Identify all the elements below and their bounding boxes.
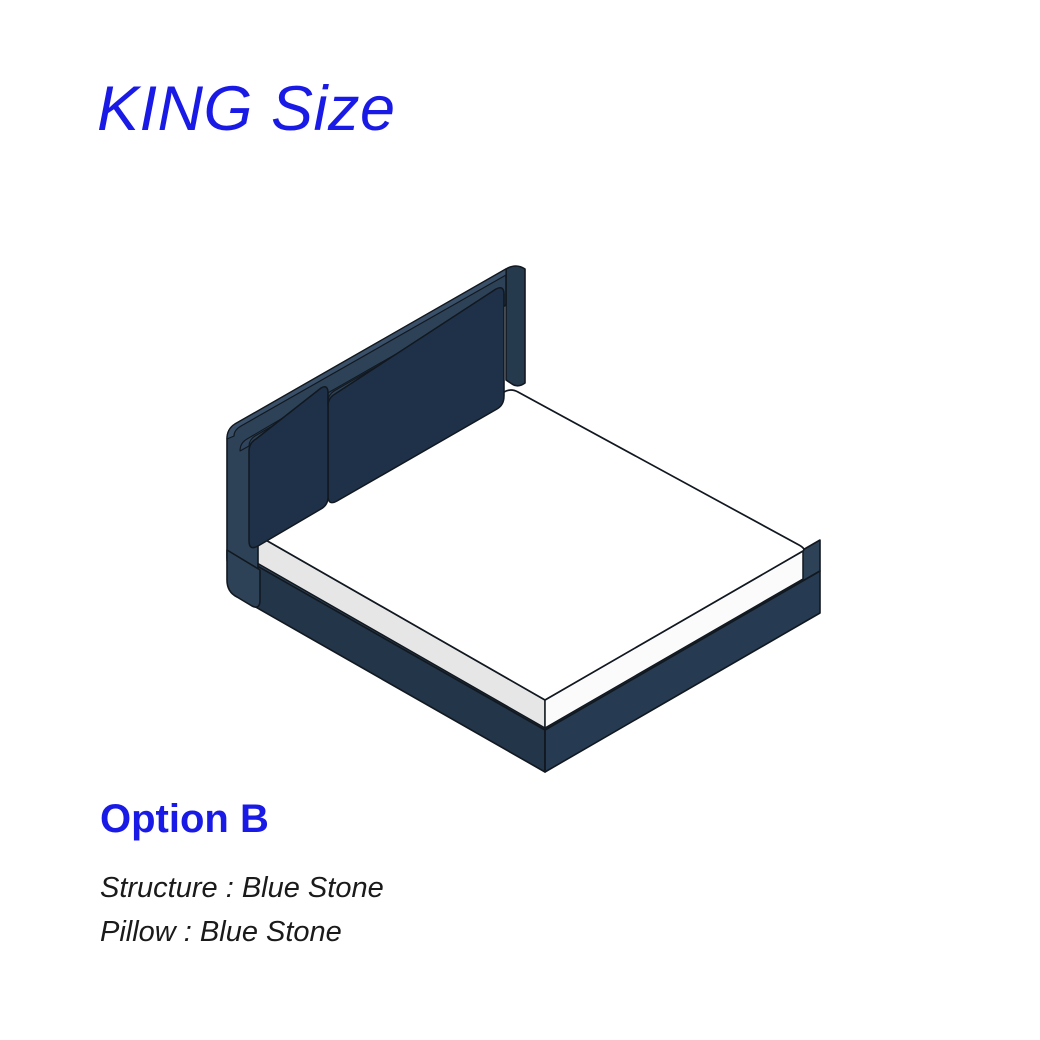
option-label: Option B	[100, 798, 620, 840]
isometric-bed-svg	[200, 250, 850, 800]
page-root: KING Size	[0, 0, 1040, 1040]
page-title: KING Size	[97, 78, 396, 141]
bed-illustration	[200, 250, 850, 800]
headboard-right-side-face	[506, 266, 525, 386]
spec-pillow: Pillow : Blue Stone	[100, 910, 620, 954]
spec-list: Structure : Blue Stone Pillow : Blue Sto…	[100, 866, 620, 954]
spec-structure: Structure : Blue Stone	[100, 866, 620, 910]
caption-block: Option B Structure : Blue Stone Pillow :…	[100, 798, 620, 954]
